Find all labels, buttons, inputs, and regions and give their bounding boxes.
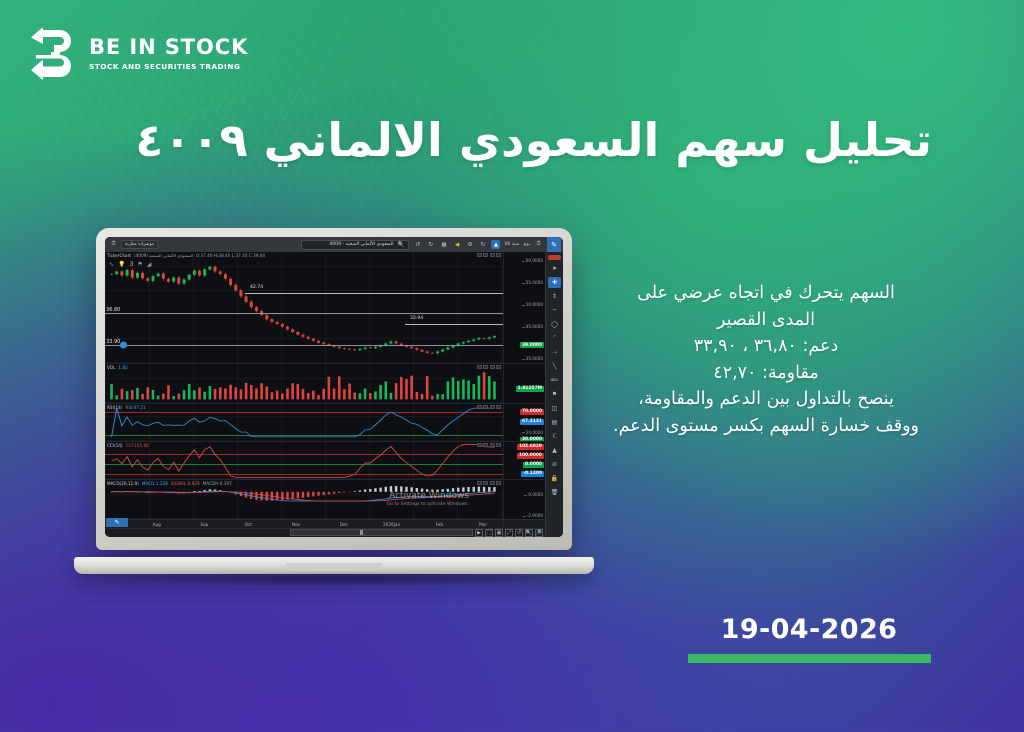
brand-name: BE IN STOCK xyxy=(89,37,248,58)
cci-label: CCI(14) xyxy=(107,443,123,448)
macd-header: MACD(26,12,9) MACD:1.128 SIGNAL:0.929 MA… xyxy=(107,481,232,486)
laptop-mockup: ⏱ مؤشرات مقارنة السعودي الألماني الصحية … xyxy=(74,228,594,580)
volume-panel-controls[interactable] xyxy=(477,365,502,369)
brand-logo[interactable]: BE IN STOCK STOCK AND SECURITIES TRADING xyxy=(30,28,248,80)
abc-icon[interactable]: abc xyxy=(548,375,561,386)
support-label-3394: 33.94 xyxy=(410,316,423,321)
volume-panel: VOL 1.82 xyxy=(105,364,545,404)
lock-icon[interactable]: 🔒 xyxy=(548,473,561,484)
macd-panel: MACD(26,12,9) MACD:1.128 SIGNAL:0.929 MA… xyxy=(105,480,545,519)
macd-value: MACD:1.128 xyxy=(142,481,168,486)
panel-minimize-icon[interactable] xyxy=(477,443,482,447)
settings-icon[interactable]: ⚙ xyxy=(465,240,474,249)
macd-signal-value: SIGNAL:0.929 xyxy=(171,481,200,486)
time-tick-jan: 2026Jan xyxy=(383,522,400,527)
chart-scroll-row[interactable]: ▶ ⛶ ▣ ⤢ ↺ 🔍 🔎 xyxy=(105,528,545,537)
time-axis-corner xyxy=(503,520,545,528)
panel-hide-icon[interactable] xyxy=(490,481,495,485)
chart-source: TickerChart xyxy=(107,253,131,258)
ellipse-icon[interactable]: ◯ xyxy=(548,319,561,330)
cursor-icon[interactable]: ➤ xyxy=(548,263,561,274)
poster-canvas: BE IN STOCK STOCK AND SECURITIES TRADING… xyxy=(0,0,1024,732)
pitchfork-icon[interactable]: ╲ xyxy=(548,361,561,372)
macd-tick-neg2: -2.0000 xyxy=(527,513,543,518)
chart-draw-tools[interactable]: ∿ 💡 3 ⚑ ◢ xyxy=(109,261,151,268)
horizontal-line-icon[interactable]: ─ xyxy=(548,305,561,316)
panel-settings-icon[interactable] xyxy=(483,405,488,409)
cci-value: CCI:105.68 xyxy=(126,443,149,448)
chart-symbol: السعودي الألماني الصحية (4009) xyxy=(134,253,193,258)
number-3-icon[interactable]: 3 xyxy=(130,261,134,268)
time-tick-oct: Oct xyxy=(245,522,252,527)
resistance-label-4274: 42.74 xyxy=(250,285,263,290)
panel-minimize-icon[interactable] xyxy=(477,405,482,409)
date-block: 19-04-2026 xyxy=(684,616,934,663)
fit-screen-icon[interactable]: ⛶ xyxy=(485,529,493,537)
symbol-search-value: السعودي الألماني الصحية - 4009 xyxy=(329,242,393,247)
support-line-3394 xyxy=(405,324,503,325)
cci-badge-value: 105.6829 xyxy=(517,444,544,450)
zoom-in-icon[interactable]: 🔎 xyxy=(535,529,543,537)
alert-icon[interactable]: ◀ xyxy=(452,240,461,249)
price-tick-35: 35.0000 xyxy=(526,356,543,361)
period-label[interactable]: سنة 06 xyxy=(504,242,519,247)
level-label-3390: 33.90 xyxy=(106,339,120,345)
signal-icon[interactable]: ▲ xyxy=(548,445,561,456)
clock2-icon[interactable]: ⏱ xyxy=(534,240,543,249)
price-tick-45: 45.0000 xyxy=(526,324,543,329)
resistance-line-4274 xyxy=(245,293,503,294)
panel-settings-icon[interactable] xyxy=(483,443,488,447)
volume-axis[interactable]: 1.81257M xyxy=(503,364,545,403)
symbol-search-input[interactable]: السعودي الألماني الصحية - 4009 🔍 xyxy=(301,240,409,250)
search-icon[interactable]: 🔍 xyxy=(396,240,405,249)
measure-icon[interactable]: ◫ xyxy=(548,403,561,414)
cci-line xyxy=(105,442,503,480)
laptop-shadow xyxy=(114,572,554,586)
panel-close-icon[interactable] xyxy=(496,443,501,447)
rsi-line xyxy=(105,404,503,441)
level-line-3390 xyxy=(105,345,503,346)
toolbar-left-group: ⏱ مؤشرات مقارنة xyxy=(109,240,158,249)
panel-hide-icon[interactable] xyxy=(490,443,495,447)
laptop-screen: ⏱ مؤشرات مقارنة السعودي الألماني الصحية … xyxy=(105,237,563,537)
price-tick-50: 50.0000 xyxy=(526,302,543,307)
volume-plot[interactable]: VOL 1.82 xyxy=(105,364,503,403)
price-panel-controls[interactable] xyxy=(477,253,502,257)
indicator-icon[interactable]: ▲ xyxy=(491,240,500,249)
volume-bars xyxy=(105,364,503,403)
panel-hide-icon[interactable] xyxy=(490,253,495,257)
magnet-icon[interactable]: ℂ xyxy=(548,431,561,442)
price-tick-60: 60.0000 xyxy=(526,258,543,263)
cci-plot[interactable]: CCI(14) CCI:105.68 xyxy=(105,442,503,480)
panel-hide-icon[interactable] xyxy=(490,365,495,369)
snapshot-icon[interactable]: ▣ xyxy=(495,529,503,537)
price-axis[interactable]: 60.0000 55.0000 50.0000 45.0000 39.0000 … xyxy=(503,252,545,363)
undo-icon[interactable]: ↺ xyxy=(413,240,422,249)
cci-badge-0: 0.0000 xyxy=(523,462,544,468)
time-axis-labels: Aug Sep Oct Nov Dec 2026Jan Feb Mar ✎ xyxy=(105,520,503,528)
price-tick-55: 55.0000 xyxy=(526,280,543,285)
panel-minimize-icon[interactable] xyxy=(477,481,482,485)
refresh-icon[interactable]: ↻ xyxy=(478,240,487,249)
candlestick-series xyxy=(105,252,503,363)
analysis-line-5: ينصح بالتداول بين الدعم والمقاومة، xyxy=(566,386,966,413)
time-tick-nov: Nov xyxy=(292,522,300,527)
zigzag-icon[interactable]: ◢ xyxy=(147,261,152,268)
wave-icon[interactable]: ∿ xyxy=(109,261,114,268)
price-panel: TickerChart السعودي الألماني الصحية (400… xyxy=(105,252,545,364)
pen-tool-button[interactable]: ✎ xyxy=(547,237,561,252)
date-underline xyxy=(688,654,931,663)
rsi-badge-70: 70.0000 xyxy=(520,409,544,415)
analysis-line-2: المدى القصير xyxy=(566,307,966,334)
panel-minimize-icon[interactable] xyxy=(477,253,482,257)
laptop-lid: ⏱ مؤشرات مقارنة السعودي الألماني الصحية … xyxy=(96,228,572,550)
fib-icon[interactable]: ⤑ xyxy=(548,347,561,358)
time-tick-dec: Dec xyxy=(340,522,348,527)
panel-close-icon[interactable] xyxy=(496,481,501,485)
analysis-line-1: السهم يتحرك في اتجاه عرضي على xyxy=(566,280,966,307)
page-title: تحليل سهم السعودي الالماني ٤٠٠٩ xyxy=(92,112,932,168)
cci-panel: CCI(14) CCI:105.68 xyxy=(105,442,545,481)
rsi-plot[interactable]: RSI(14) RSI:67.21 xyxy=(105,404,503,441)
volume-label: VOL xyxy=(107,365,115,370)
rsi-tick-50: 50.0000 xyxy=(526,430,543,435)
rail-alert-strip[interactable] xyxy=(548,255,561,260)
cci-header: CCI(14) CCI:105.68 xyxy=(107,443,149,448)
panel-close-icon[interactable] xyxy=(496,365,501,369)
flag-icon[interactable]: ⚑ xyxy=(137,261,142,268)
price-plot[interactable]: TickerChart السعودي الألماني الصحية (400… xyxy=(105,252,503,363)
cci-badge-100: 100.0000 xyxy=(517,453,544,459)
analysis-resistance-line: مقاومة: ٤٢,٧٠ xyxy=(566,360,966,387)
expand-icon[interactable]: ⤢ xyxy=(505,529,513,537)
macd-hist-value: MACDH:0.197 xyxy=(203,481,232,486)
eye-off-icon[interactable]: ⊘ xyxy=(548,459,561,470)
compare-indicators-chip[interactable]: مؤشرات مقارنة xyxy=(121,240,158,249)
time-tick-sep: Sep xyxy=(201,522,209,527)
bar-pattern-icon[interactable]: ▤ xyxy=(548,417,561,428)
panel-hide-icon[interactable] xyxy=(490,405,495,409)
time-tick-aug: Aug xyxy=(153,522,161,527)
draw-pen-button[interactable]: ✎ xyxy=(106,518,128,527)
crosshair-icon[interactable]: ✚ xyxy=(548,277,561,288)
macd-tick-0: 0.0000 xyxy=(528,492,543,497)
analysis-text: السهم يتحرك في اتجاه عرضي على المدى القص… xyxy=(566,280,966,440)
cci-panel-controls[interactable] xyxy=(477,443,502,447)
clock-icon[interactable]: ⏱ xyxy=(109,240,118,249)
publish-date: 19-04-2026 xyxy=(684,616,934,643)
range-label[interactable]: يوم xyxy=(524,242,531,247)
arrow-b-logo-icon xyxy=(30,28,78,80)
text-icon[interactable]: ⌜ xyxy=(548,333,561,344)
cci-axis[interactable]: 105.6829 100.0000 0.0000 -0.1200 0.9286 xyxy=(503,442,545,480)
analysis-line-6: ووقف خسارة السهم بكسر مستوى الدعم. xyxy=(566,413,966,440)
rsi-panel-controls[interactable] xyxy=(477,405,502,409)
app-toolbar: ⏱ مؤشرات مقارنة السعودي الألماني الصحية … xyxy=(105,237,563,252)
macd-label: MACD(26,12,9) xyxy=(107,481,139,486)
volume-value: 1.82 xyxy=(118,365,127,370)
macd-axis[interactable]: 0.0000 -2.0000 xyxy=(503,480,545,519)
chart-ohlc: O:37.40 H:38.40 L:37.40 C:39.00 xyxy=(196,253,265,258)
trend-line-icon[interactable]: ↕ xyxy=(548,291,561,302)
volume-badge: 1.81257M xyxy=(516,386,544,392)
rsi-label: RSI(14) xyxy=(107,405,122,410)
zoom-out-icon[interactable]: 🔍 xyxy=(525,529,533,537)
panel-close-icon[interactable] xyxy=(496,253,501,257)
bulb-icon[interactable]: 💡 xyxy=(118,261,125,268)
zoom-reset-icon[interactable]: ↺ xyxy=(515,529,523,537)
macd-panel-controls[interactable] xyxy=(477,481,502,485)
scroll-right-icon[interactable]: ▶ xyxy=(475,529,483,537)
last-price-badge: 39.0000 xyxy=(520,342,544,348)
panel-close-icon[interactable] xyxy=(496,405,501,409)
time-axis[interactable]: Aug Sep Oct Nov Dec 2026Jan Feb Mar ✎ xyxy=(105,519,545,528)
macd-plot[interactable]: MACD(26,12,9) MACD:1.128 SIGNAL:0.929 MA… xyxy=(105,480,503,519)
analysis-support-line: دعم: ٣٦,٨٠ ، ٣٣,٩٠ xyxy=(566,333,966,360)
app-body: TickerChart السعودي الألماني الصحية (400… xyxy=(105,252,563,537)
flag-icon[interactable]: ⚑ xyxy=(548,389,561,400)
panel-settings-icon[interactable] xyxy=(483,253,488,257)
cci-badge-neg: -0.1200 xyxy=(521,471,544,477)
volume-header: VOL 1.82 xyxy=(107,365,128,370)
drawing-tools-rail[interactable]: ➤ ✚ ↕ ─ ◯ ⌜ ⤑ ╲ abc ⚑ ◫ ▤ ℂ xyxy=(545,252,563,537)
rsi-header: RSI(14) RSI:67.21 xyxy=(107,405,146,410)
layout-icon[interactable]: ▦ xyxy=(439,240,448,249)
horizontal-scrollbar[interactable] xyxy=(290,529,473,536)
alert-dot-icon[interactable] xyxy=(120,342,127,349)
rsi-axis[interactable]: 70.0000 67.2131 50.0000 30.0000 xyxy=(503,404,545,441)
panel-settings-icon[interactable] xyxy=(483,365,488,369)
chart-header: TickerChart السعودي الألماني الصحية (400… xyxy=(107,253,265,258)
panel-settings-icon[interactable] xyxy=(483,481,488,485)
chart-column: TickerChart السعودي الألماني الصحية (400… xyxy=(105,252,545,537)
level-label-3680: 36.80 xyxy=(106,307,120,313)
rsi-value: RSI:67.21 xyxy=(125,405,145,410)
brand-tagline: STOCK AND SECURITIES TRADING xyxy=(89,63,248,70)
rsi-panel: RSI(14) RSI:67.21 xyxy=(105,404,545,442)
trash-icon[interactable]: 🗑 xyxy=(548,487,561,498)
laptop-notch xyxy=(286,563,382,571)
time-tick-feb: Feb xyxy=(436,522,443,527)
level-line-3680 xyxy=(105,313,503,314)
redo-icon[interactable]: ↻ xyxy=(426,240,435,249)
rsi-badge-value: 67.2131 xyxy=(520,419,544,425)
trading-app: ⏱ مؤشرات مقارنة السعودي الألماني الصحية … xyxy=(105,237,563,537)
time-tick-mar: Mar xyxy=(479,522,487,527)
panel-minimize-icon[interactable] xyxy=(477,365,482,369)
